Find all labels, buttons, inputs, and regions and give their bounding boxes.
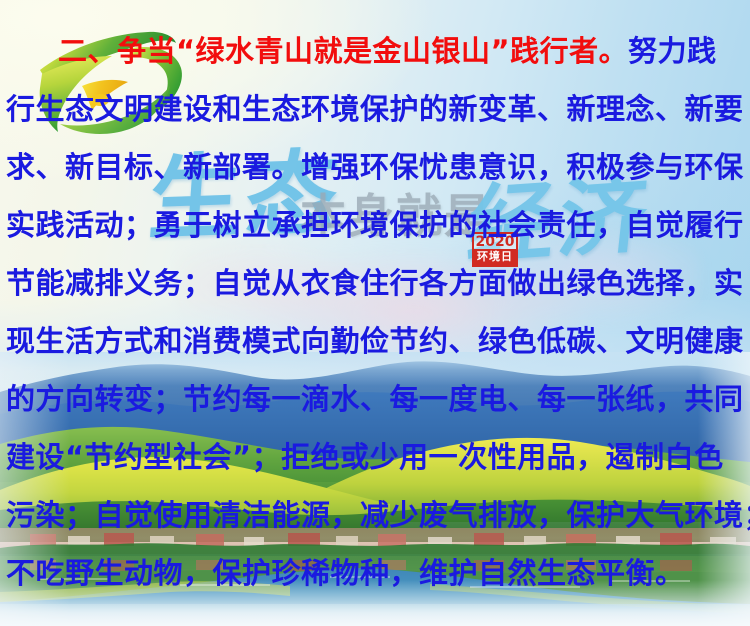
- text-line-2: 行生态文明建设和生态环境保护的新变革、新理念、新要: [0, 80, 750, 138]
- text-line-4: 实践活动；勇于树立承担环境保护的社会责任，自觉履行: [0, 196, 750, 254]
- text-line-9-seg-1: 污染；自觉使用清洁能源，减少废气排放，保护大气环境；: [6, 498, 750, 532]
- text-line-5: 节能减排义务；自觉从衣食住行各方面做出绿色选择，实: [0, 254, 750, 312]
- text-line-8-seg-1: 建设“节约型社会”；拒绝或少用一次性用品，遏制白色: [6, 440, 724, 474]
- text-line-5-seg-1: 节能减排义务；自觉从衣食住行各方面做出绿色选择，实: [6, 266, 744, 300]
- text-line-6-seg-1: 现生活方式和消费模式向勤俭节约、绿色低碳、文明健康: [6, 324, 744, 358]
- text-line-1: 二、争当“绿水青山就是金山银山”践行者。努力践: [0, 22, 750, 80]
- text-line-10: 不吃野生动物，保护珍稀物种，维护自然生态平衡。: [0, 544, 750, 602]
- slide-canvas: 生态 本身就是 经济 2020 环境日 二、争当“绿水青山就是金山银山”践行者。…: [0, 0, 750, 626]
- text-line-1-seg-1: 二、争当“绿水青山就是金山银山”践行者。: [58, 34, 628, 68]
- text-line-9: 污染；自觉使用清洁能源，减少废气排放，保护大气环境；: [0, 486, 750, 544]
- text-line-8: 建设“节约型社会”；拒绝或少用一次性用品，遏制白色: [0, 428, 750, 486]
- text-line-7: 的方向转变；节约每一滴水、每一度电、每一张纸，共同: [0, 370, 750, 428]
- text-line-1-seg-2: 努力践: [628, 34, 717, 68]
- text-line-6: 现生活方式和消费模式向勤俭节约、绿色低碳、文明健康: [0, 312, 750, 370]
- text-line-10-seg-1: 不吃野生动物，保护珍稀物种，维护自然生态平衡。: [6, 556, 685, 590]
- text-line-2-seg-1: 行生态文明建设和生态环境保护的新变革、新理念、新要: [6, 92, 744, 126]
- text-line-7-seg-1: 的方向转变；节约每一滴水、每一度电、每一张纸，共同: [6, 382, 744, 416]
- text-line-4-seg-1: 实践活动；勇于树立承担环境保护的社会责任，自觉履行: [6, 208, 744, 242]
- text-line-3: 求、新目标、新部署。增强环保忧患意识，积极参与环保: [0, 138, 750, 196]
- text-line-3-seg-1: 求、新目标、新部署。增强环保忧患意识，积极参与环保: [6, 150, 744, 184]
